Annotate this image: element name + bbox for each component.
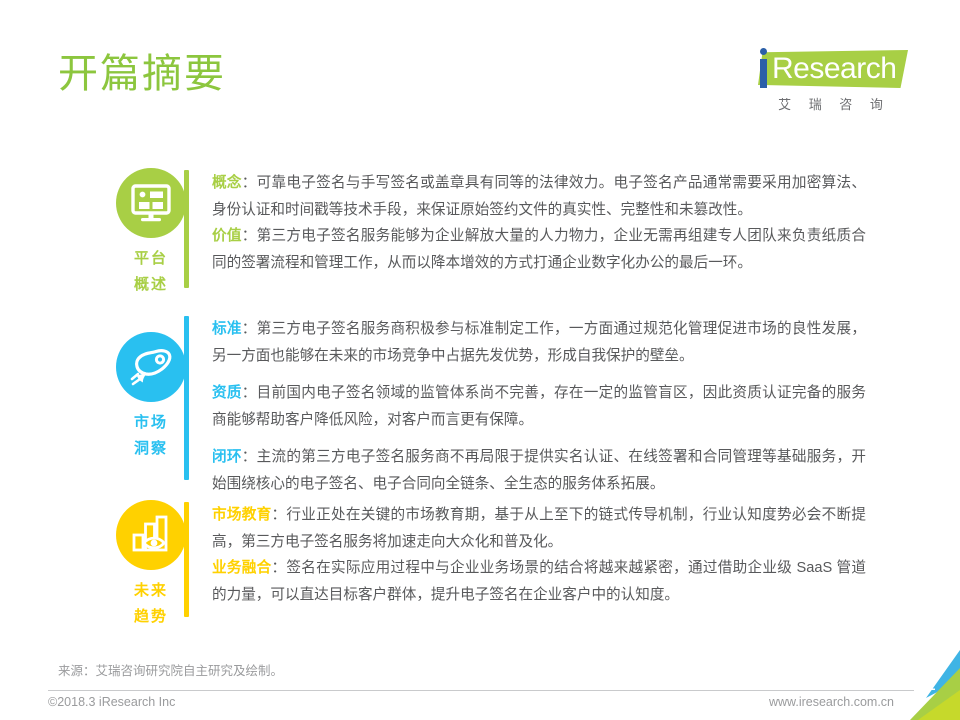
section-body-future: 市场教育：行业正处在关键的市场教育期，基于从上至下的链式传导机制，行业认知度势必… — [212, 502, 866, 608]
badge-label-line1: 市场 — [90, 410, 212, 436]
badge-label-line1: 平台 — [90, 246, 212, 272]
paragraph-standard: 标准：第三方电子签名服务商积极参与标准制定工作，一方面通过规范化管理促进市场的良… — [212, 316, 866, 369]
badge-future-trend: 未来 趋势 — [90, 500, 212, 630]
copyright-text: ©2018.3 iResearch Inc — [48, 695, 175, 709]
monitor-icon — [116, 168, 186, 238]
paragraph-text: ：目前国内电子签名领域的监管体系尚不完善，存在一定的监管盲区，因此资质认证完备的… — [212, 385, 866, 428]
website-url: www.iresearch.com.cn — [769, 695, 894, 709]
section-accent-bar — [184, 502, 189, 617]
source-note: 来源：艾瑞咨询研究院自主研究及绘制。 — [58, 660, 283, 679]
logo-mark: Research — [736, 48, 908, 92]
footer-divider — [48, 690, 914, 691]
logo-i-stem — [760, 59, 767, 88]
slide-canvas: 开篇摘要 Research 艾 瑞 咨 询 平台 — [0, 0, 960, 720]
chart-eye-icon — [116, 500, 186, 570]
paragraph-keyword: 业务融合 — [212, 560, 272, 576]
page-title: 开篇摘要 — [58, 48, 226, 100]
paragraph-business-integration: 业务融合：签名在实际应用过程中与企业业务场景的结合将越来越紧密，通过借助企业级 … — [212, 555, 866, 608]
paragraph-text: ：签名在实际应用过程中与企业业务场景的结合将越来越紧密，通过借助企业级 SaaS… — [212, 560, 866, 603]
paragraph-keyword: 价值 — [212, 228, 242, 244]
paragraph-text: ：主流的第三方电子签名服务商不再局限于提供实名认证、在线签署和合同管理等基础服务… — [212, 449, 866, 492]
section-body-platform: 概念：可靠电子签名与手写签名或盖章具有同等的法律效力。电子签名产品通常需要采用加… — [212, 170, 866, 276]
badge-market-insight: 市场 洞察 — [90, 332, 212, 462]
badge-platform-overview: 平台 概述 — [90, 168, 212, 298]
paragraph-keyword: 概念 — [212, 175, 242, 191]
badge-label-line2: 洞察 — [90, 436, 212, 462]
logo-i-dot — [760, 48, 767, 55]
badge-label-line2: 趋势 — [90, 604, 212, 630]
paragraph-keyword: 资质 — [212, 385, 242, 401]
rocket-icon — [116, 332, 186, 402]
section-body-market: 标准：第三方电子签名服务商积极参与标准制定工作，一方面通过规范化管理促进市场的良… — [212, 316, 866, 497]
iresearch-logo: Research 艾 瑞 咨 询 — [736, 48, 908, 114]
paragraph-value: 价值：第三方电子签名服务能够为企业解放大量的人力物力，企业无需再组建专人团队来负… — [212, 223, 866, 276]
paragraph-text: ：可靠电子签名与手写签名或盖章具有同等的法律效力。电子签名产品通常需要采用加密算… — [212, 175, 866, 218]
logo-wordmark: Research — [772, 52, 896, 86]
section-accent-bar — [184, 316, 189, 480]
badge-label-line1: 未来 — [90, 578, 212, 604]
paragraph-closedloop: 闭环：主流的第三方电子签名服务商不再局限于提供实名认证、在线签署和合同管理等基础… — [212, 444, 866, 497]
badge-label-line2: 概述 — [90, 272, 212, 298]
section-accent-bar — [184, 170, 189, 288]
paragraph-text: ：第三方电子签名服务能够为企业解放大量的人力物力，企业无需再组建专人团队来负责纸… — [212, 228, 866, 271]
paragraph-market-education: 市场教育：行业正处在关键的市场教育期，基于从上至下的链式传导机制，行业认知度势必… — [212, 502, 866, 555]
paragraph-keyword: 市场教育 — [212, 507, 271, 523]
logo-subtitle: 艾 瑞 咨 询 — [760, 94, 908, 113]
paragraph-text: ：第三方电子签名服务商积极参与标准制定工作，一方面通过规范化管理促进市场的良性发… — [212, 321, 866, 364]
paragraph-keyword: 标准 — [212, 321, 242, 337]
paragraph-qualification: 资质：目前国内电子签名领域的监管体系尚不完善，存在一定的监管盲区，因此资质认证完… — [212, 380, 866, 433]
paragraph-keyword: 闭环 — [212, 449, 242, 465]
paragraph-concept: 概念：可靠电子签名与手写签名或盖章具有同等的法律效力。电子签名产品通常需要采用加… — [212, 170, 866, 223]
page-number: 2 — [925, 673, 936, 696]
paragraph-text: ：行业正处在关键的市场教育期，基于从上至下的链式传导机制，行业认知度势必会不断提… — [212, 507, 866, 550]
